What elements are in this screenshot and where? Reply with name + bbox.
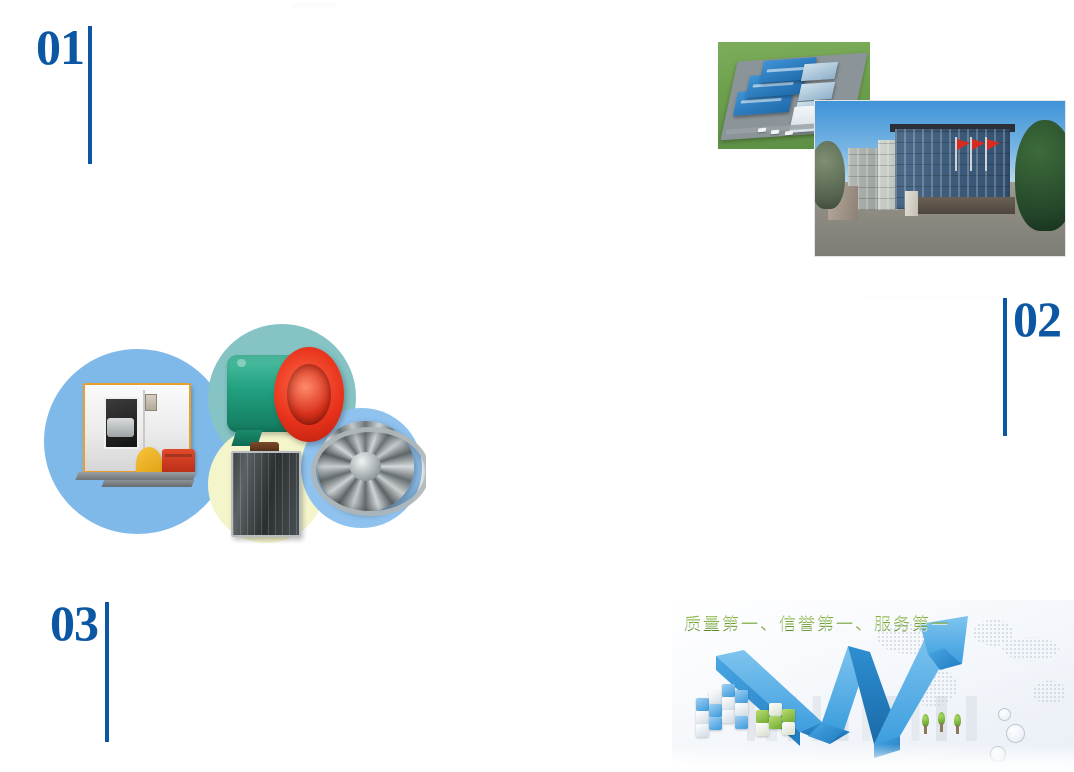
- box-fan-impeller: [107, 418, 134, 437]
- tree-icon-1: [919, 714, 932, 734]
- section-number-03: 03: [50, 600, 98, 646]
- section-rule-01: [88, 26, 92, 164]
- axial-blade: [296, 378, 312, 400]
- scan-artifact-mid: [866, 296, 1006, 299]
- blue-cube-cluster: [696, 676, 756, 736]
- growth-banner-image: 质量第一、信誉第一、服务第一: [672, 600, 1074, 772]
- impeller-hub: [350, 452, 381, 481]
- growth-banner-caption: 质量第一、信誉第一、服务第一: [684, 610, 950, 635]
- section-marker-01: 01: [36, 24, 92, 164]
- box-fan-control-box: [145, 394, 156, 412]
- product-cabinet-box-fan: [63, 383, 203, 494]
- axial-blade: [288, 395, 309, 402]
- product-collage-image: [36, 322, 426, 548]
- box-fan-motor: [162, 449, 196, 473]
- factory-vehicle-2: [771, 129, 780, 134]
- flag-pole-2: [970, 137, 972, 171]
- factory-block-1: [801, 62, 839, 81]
- axial-blade: [296, 396, 312, 418]
- tree-right: [1015, 120, 1066, 232]
- section-number-01: 01: [36, 24, 84, 70]
- gate-pillar: [905, 191, 918, 216]
- section-rule-02: [1003, 298, 1007, 436]
- filter-box-body: [231, 451, 301, 537]
- box-fan-base-frame-2: [101, 480, 194, 487]
- tree-left: [814, 141, 845, 209]
- section-rule-03: [105, 602, 109, 742]
- flag-pole-3: [985, 137, 987, 171]
- section-marker-02: 02: [1003, 296, 1061, 436]
- perimeter-wall: [910, 197, 1015, 214]
- bubble-medium: [1006, 724, 1025, 743]
- section-number-02: 02: [1013, 296, 1061, 342]
- tree-icon-2: [935, 712, 948, 732]
- green-cube-cluster: [756, 698, 796, 740]
- factory-block-2: [798, 82, 836, 101]
- factory-vehicle-3: [784, 131, 793, 136]
- flag-pole-1: [955, 137, 957, 171]
- section-marker-03: 03: [50, 600, 109, 742]
- box-fan-base-frame: [76, 472, 197, 480]
- office-building-photo: [814, 100, 1066, 257]
- factory-vehicle-1: [757, 127, 766, 132]
- axial-blade: [309, 395, 330, 402]
- banner-reflection: [672, 744, 1074, 772]
- bubble-small: [998, 708, 1011, 721]
- axial-blade: [306, 378, 322, 400]
- scan-artifact-top: [292, 2, 336, 8]
- product-stainless-impeller: [317, 421, 415, 511]
- axial-blade: [306, 396, 322, 418]
- product-air-filter-box: [231, 442, 297, 537]
- tree-icon-3: [951, 714, 964, 734]
- page-root: 01 02 03: [0, 0, 1074, 772]
